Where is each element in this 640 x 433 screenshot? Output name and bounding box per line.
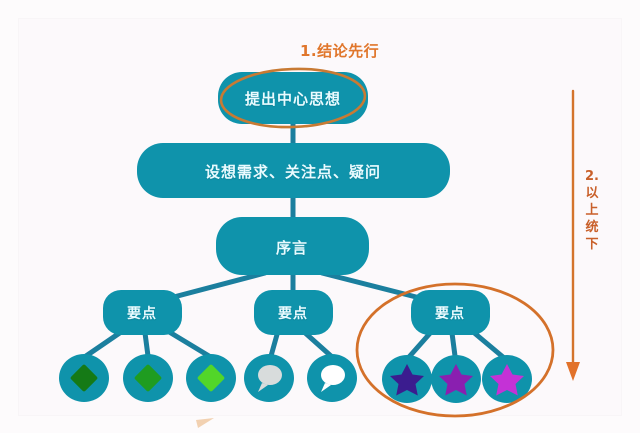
leaf-node-3[interactable]: [244, 354, 294, 402]
annotation-side-char-0: 2.: [581, 168, 603, 185]
node-third[interactable]: [216, 217, 369, 275]
leaf-node-4[interactable]: [307, 354, 357, 402]
node-shapes: [103, 72, 490, 335]
annotation-side-char-4: 下: [581, 236, 603, 253]
connector-branch2-leaf2: [472, 331, 503, 357]
annotation-side-char-2: 上: [581, 202, 603, 219]
leaf-node-2[interactable]: [186, 354, 236, 402]
leaf-node-6[interactable]: [431, 355, 481, 403]
diagram-canvas: 提出中心思想 设想需求、关注点、疑问 序言 要点 要点 要点 1.结论先行 2.…: [0, 0, 640, 433]
node-branch-1[interactable]: [254, 290, 333, 335]
node-branch-2[interactable]: [411, 290, 490, 335]
annotation-side-char-3: 统: [581, 219, 603, 236]
leaf-node-0[interactable]: [59, 354, 109, 402]
leaf-node-5[interactable]: [382, 355, 432, 403]
leaf-nodes: [59, 354, 532, 403]
connector-branch0-leaf1: [145, 333, 148, 356]
connector-third-branch-0: [170, 273, 265, 298]
annotation-conclusion-first: 1.结论先行: [300, 40, 379, 61]
diagram-graphics: [0, 0, 640, 433]
connector-branch2-leaf1: [452, 333, 455, 356]
connector-branch0-leaf2: [166, 330, 209, 356]
annotation-top-down: 2. 以 上 统 下: [581, 168, 603, 253]
node-second[interactable]: [137, 143, 450, 198]
leaf-node-1[interactable]: [123, 354, 173, 402]
annotation-side-char-1: 以: [581, 185, 603, 202]
down-arrow-icon: [566, 91, 580, 381]
bottom-arrow-icon: [196, 418, 214, 428]
node-branch-0[interactable]: [103, 290, 182, 335]
